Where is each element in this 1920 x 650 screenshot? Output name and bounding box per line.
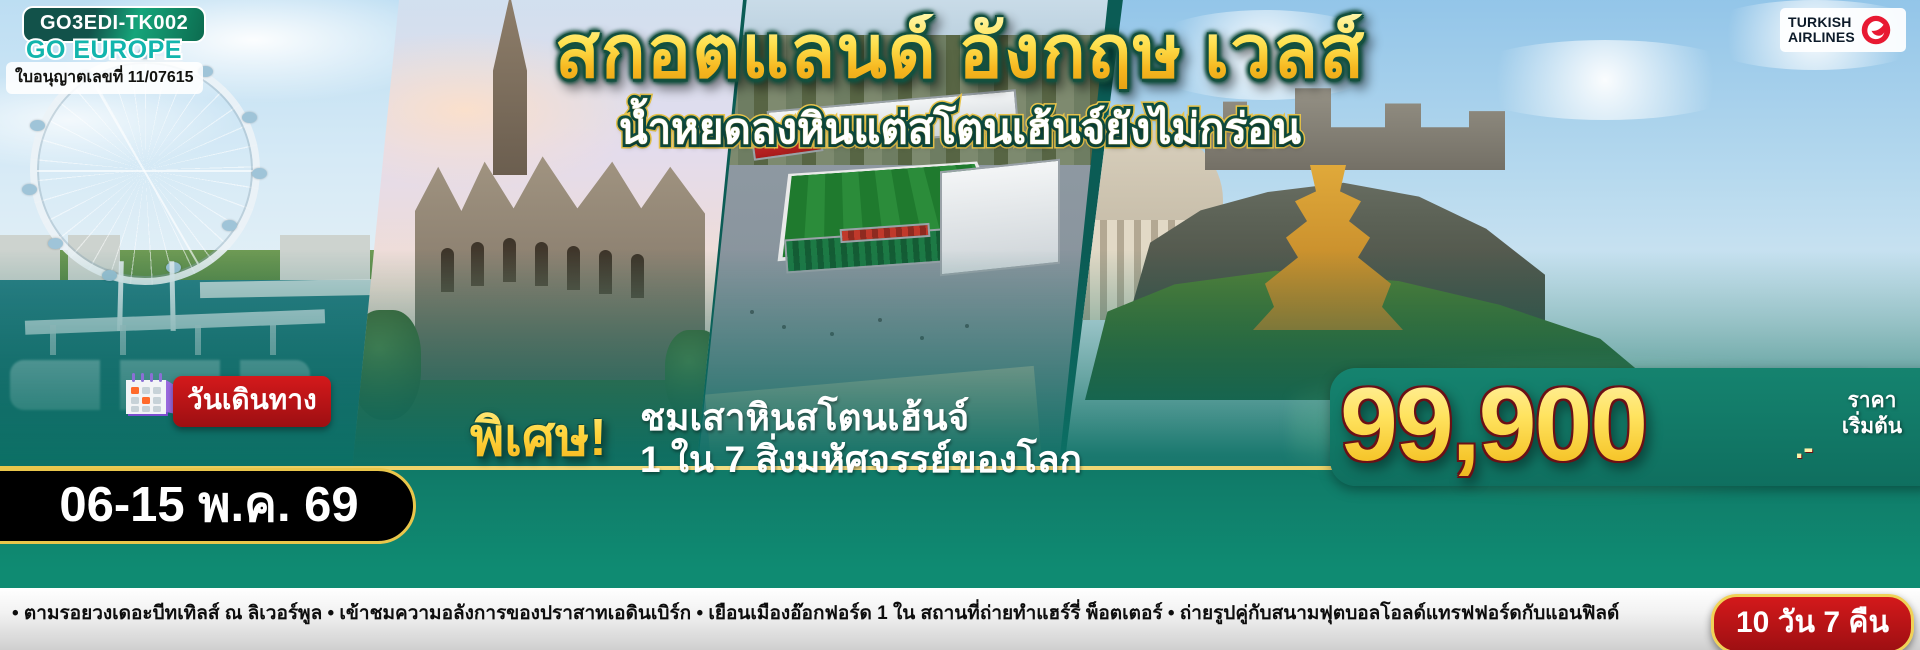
promo-line-2: 1 ใน 7 สิ่งมหัศจรรย์ของโลก <box>640 430 1082 489</box>
departure-dates: 06-15 พ.ค. 69 <box>14 472 404 538</box>
page-title: สกอตแลนด์ อังกฤษ เวลส์ <box>0 14 1920 89</box>
price-from-line1: ราคา <box>1830 388 1914 414</box>
price-currency-symbol: .- <box>1795 432 1813 466</box>
duration-badge: 10 วัน 7 คืน <box>1711 594 1914 650</box>
price-from-label: ราคา เริ่มต้น <box>1830 388 1914 440</box>
price-from-line2: เริ่มต้น <box>1830 414 1914 440</box>
travel-promo-banner: GO3EDI-TK002 GO EUROPE ใบอนุญาตเลขที่ 11… <box>0 0 1920 650</box>
subheadline: น้ำหยดลงหินแต่สโตนเฮ้นจ์ยังไม่กร่อน <box>0 96 1920 162</box>
calendar-icon <box>122 372 180 420</box>
price-amount: 99,900 <box>1340 366 1646 485</box>
departure-badge: วันเดินทาง <box>173 376 331 427</box>
highlights-text: • ตามรอยวงเดอะบีทเทิลส์ ณ ลิเวอร์พูล • เ… <box>12 598 1619 628</box>
special-label: พิเศษ! <box>470 395 607 478</box>
